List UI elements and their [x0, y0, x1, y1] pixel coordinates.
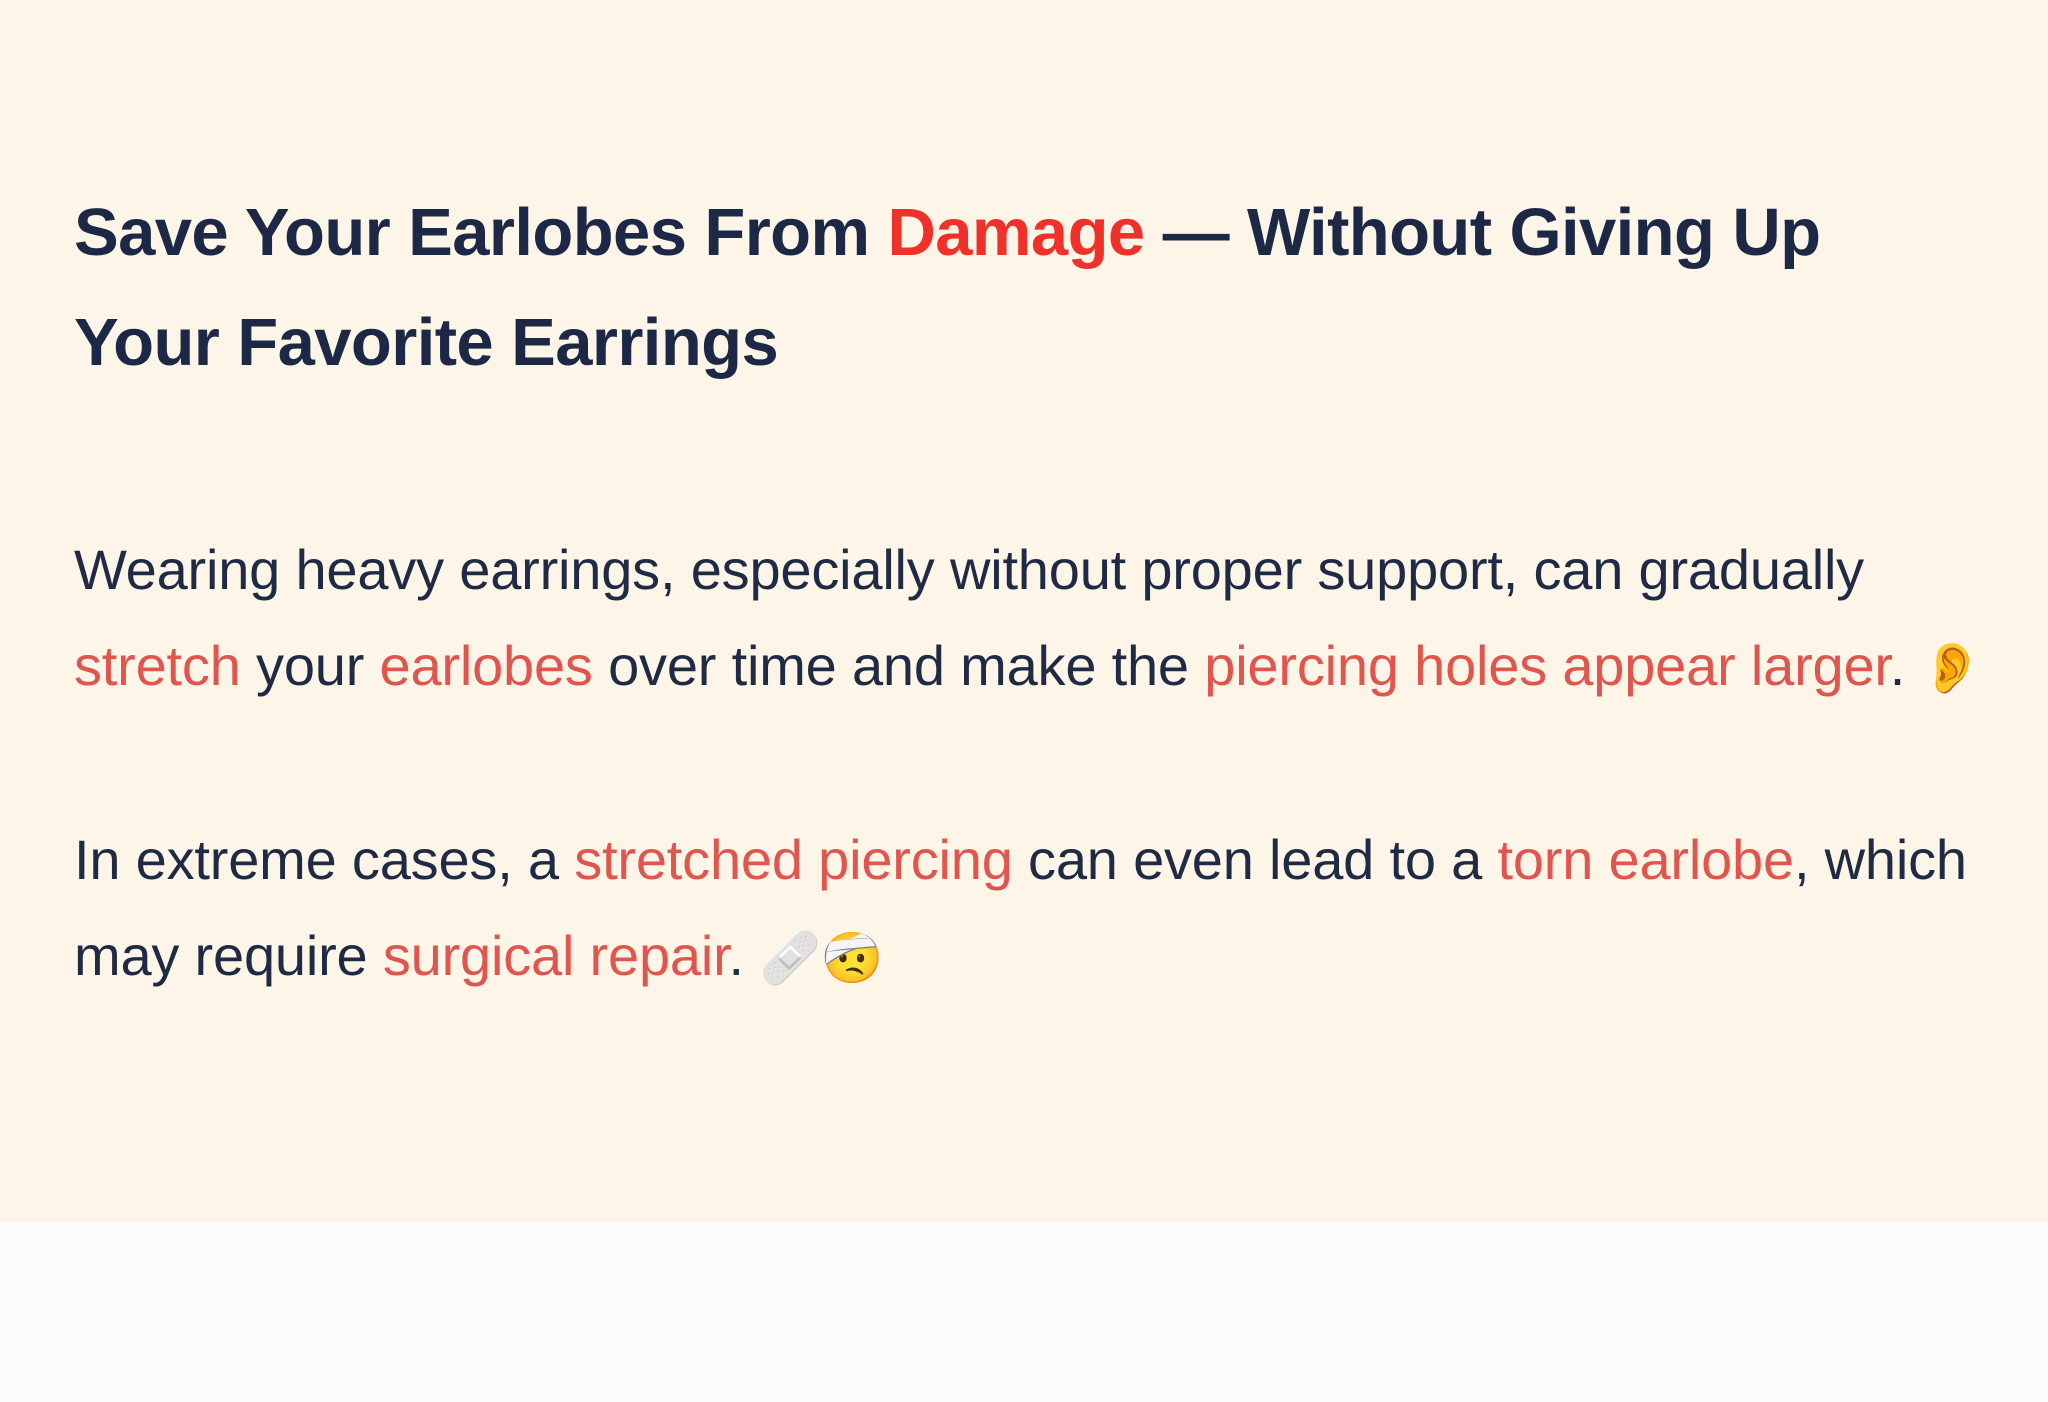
headline-em-dash: — [1145, 195, 1229, 270]
highlighted-phrase: piercing holes appear larger [1204, 634, 1890, 697]
highlighted-phrase: stretch [74, 634, 241, 697]
body-copy: Wearing heavy earrings, especially witho… [74, 522, 2004, 1004]
content-panel: Save Your Earlobes From Damage — Without… [0, 0, 2048, 1222]
paragraph-2: In extreme cases, a stretched piercing c… [74, 812, 2004, 1004]
headline-line1-lead: Save Your Earlobes From [74, 195, 887, 270]
highlighted-phrase: earlobes [380, 634, 593, 697]
headline-accent-word: Damage [887, 195, 1144, 270]
text-run: Wearing heavy earrings, especially witho… [74, 538, 1864, 601]
page-title: Save Your Earlobes From Damage — Without… [74, 178, 1934, 398]
paragraph-1: Wearing heavy earrings, especially witho… [74, 522, 2004, 714]
text-run: your [241, 634, 380, 697]
highlighted-phrase: surgical repair [383, 924, 729, 987]
text-run: In extreme cases, a [74, 828, 574, 891]
ear-emoji: 👂 [1920, 639, 1982, 697]
text-run: can even lead to a [1013, 828, 1498, 891]
highlighted-phrase: stretched piercing [574, 828, 1012, 891]
text-run: over time and make the [593, 634, 1205, 697]
face-with-head-bandage-emoji: 🤕 [821, 929, 883, 987]
adhesive-bandage-emoji: 🩹 [759, 929, 821, 987]
bottom-strip [0, 1222, 2048, 1402]
text-run: . [728, 924, 759, 987]
text-run: . [1890, 634, 1921, 697]
slide-root: Save Your Earlobes From Damage — Without… [0, 0, 2048, 1402]
highlighted-phrase: torn earlobe [1497, 828, 1793, 891]
